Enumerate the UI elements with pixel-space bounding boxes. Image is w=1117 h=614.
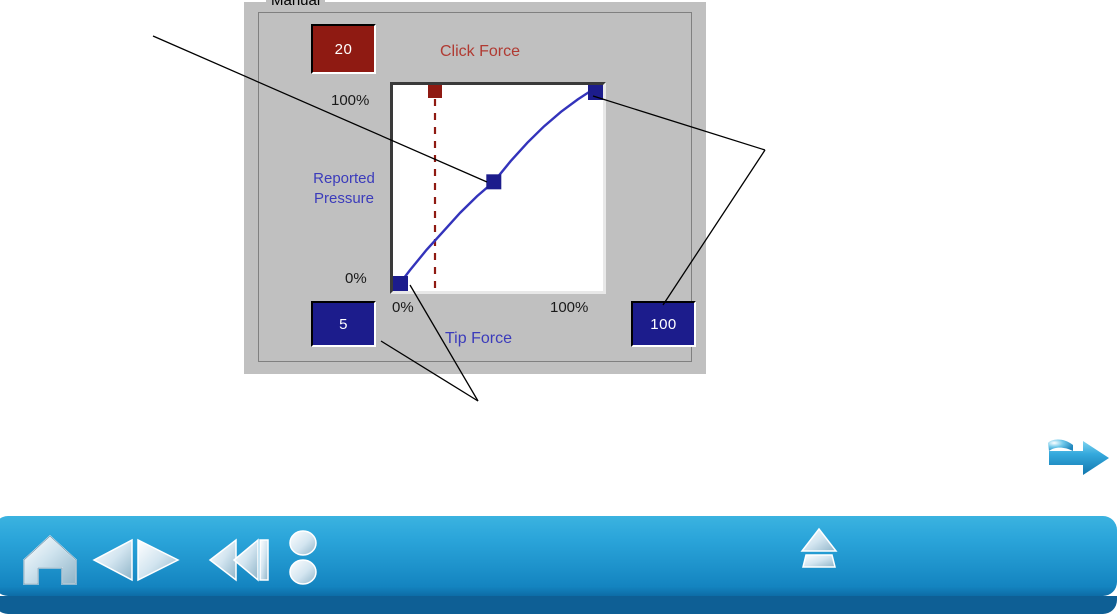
y-axis-tick-top: 100%: [331, 92, 369, 109]
control-point-mid-handle[interactable]: [486, 174, 501, 189]
x-axis-tick-right: 100%: [550, 299, 588, 316]
prev-arrow-icon: [94, 540, 132, 580]
tip-force-min-value-box[interactable]: 5: [311, 301, 376, 347]
next-arrow-icon[interactable]: [1047, 437, 1111, 479]
tip-force-max-value-box[interactable]: 100: [631, 301, 696, 347]
control-point-max-handle[interactable]: [588, 85, 603, 100]
x-axis-tick-left: 0%: [392, 299, 414, 316]
pressure-curve-plot[interactable]: [390, 82, 606, 294]
manual-panel: Manual 20 Click Force Reported Pressure …: [244, 2, 706, 374]
reported-pressure-title: Reported Pressure: [294, 169, 394, 209]
reported-pressure-line2: Pressure: [314, 190, 374, 207]
manual-groupbox-legend: Manual: [266, 0, 325, 10]
control-point-min-handle[interactable]: [393, 276, 408, 291]
click-force-title: Click Force: [440, 43, 520, 61]
click-force-value-box[interactable]: 20: [311, 24, 376, 74]
reported-pressure-line1: Reported: [313, 170, 375, 187]
prev-next-icon[interactable]: [92, 538, 180, 582]
y-axis-tick-bottom: 0%: [345, 270, 367, 287]
rewind-icon[interactable]: [208, 538, 270, 582]
next-arrow-nav-icon: [138, 540, 178, 580]
home-icon[interactable]: [22, 534, 78, 586]
page-markers-icon[interactable]: [288, 530, 318, 586]
tip-force-title: Tip Force: [445, 330, 512, 348]
nav-bar-shadow: [0, 596, 1117, 614]
pressure-curve-canvas[interactable]: [393, 85, 603, 291]
eject-icon[interactable]: [800, 527, 838, 569]
click-force-handle[interactable]: [428, 85, 442, 98]
